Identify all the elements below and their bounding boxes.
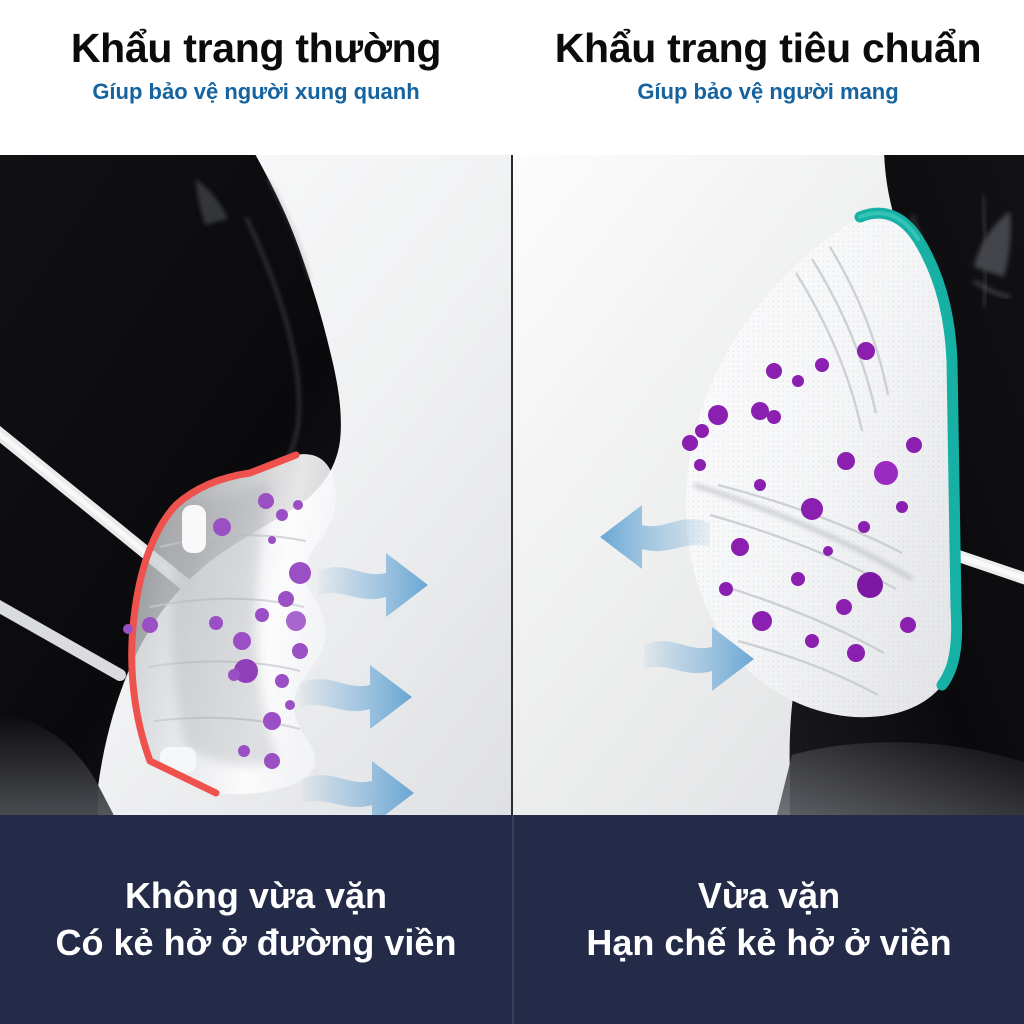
header-left-title: Khẩu trang thường (71, 26, 441, 70)
footer-row: Không vừa vặn Có kẻ hở ở đường viền Vừa … (0, 815, 1024, 1024)
panel-left-loose-mask (0, 155, 512, 815)
header-row: Khẩu trang thường Gíup bảo vệ người xung… (0, 0, 1024, 155)
panel-divider (511, 155, 513, 815)
header-right-title: Khẩu trang tiêu chuẩn (555, 26, 982, 70)
header-left-subtitle: Gíup bảo vệ người xung quanh (92, 79, 419, 105)
header-right: Khẩu trang tiêu chuẩn Gíup bảo vệ người … (512, 0, 1024, 155)
panel-left-illustration (0, 155, 512, 815)
footer-right-line1: Vừa vặn (698, 873, 840, 920)
footer-left-line2: Có kẻ hở ở đường viền (56, 920, 457, 967)
header-left: Khẩu trang thường Gíup bảo vệ người xung… (0, 0, 512, 155)
header-right-subtitle: Gíup bảo vệ người mang (637, 79, 898, 105)
footer-right-line2: Hạn chế kẻ hở ở viền (586, 920, 951, 967)
comparison-infographic: Khẩu trang thường Gíup bảo vệ người xung… (0, 0, 1024, 1024)
panel-right-illustration (512, 155, 1024, 815)
panel-right-sealed-mask (512, 155, 1024, 815)
footer-right: Vừa vặn Hạn chế kẻ hở ở viền (512, 815, 1024, 1024)
footer-left: Không vừa vặn Có kẻ hở ở đường viền (0, 815, 512, 1024)
footer-left-line1: Không vừa vặn (125, 873, 387, 920)
panel-row (0, 155, 1024, 815)
